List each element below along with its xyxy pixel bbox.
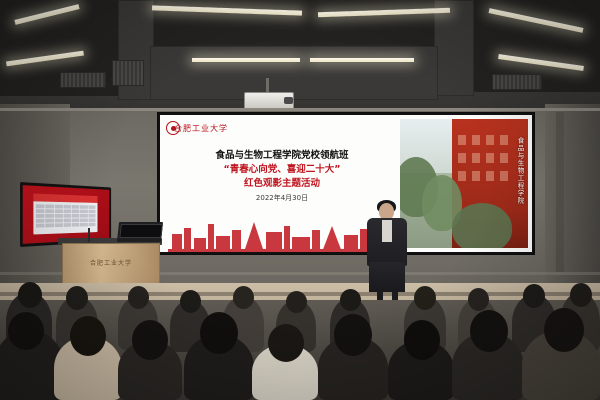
- audience-head: [200, 312, 238, 354]
- slide-heading-line-1: 食品与生物工程学院党校领航班: [170, 147, 394, 161]
- projector-mount-arm: [266, 78, 269, 92]
- podium-label: 合肥工业大学: [63, 258, 159, 267]
- presenter-leg-right: [392, 290, 398, 300]
- audience-head: [132, 320, 168, 360]
- audience-head: [414, 286, 436, 310]
- laptop[interactable]: [117, 222, 163, 242]
- slide-skyline-graphic: [168, 210, 400, 252]
- audience-head: [340, 289, 361, 311]
- ceiling-vent-left: [60, 72, 106, 88]
- ceiling-light-5: [192, 58, 300, 62]
- audience-head: [570, 283, 592, 307]
- audience-head: [404, 320, 440, 360]
- slide: 合肥工业大学 食品与生物工程学院党校领航班 “青春心向党、喜迎二十大” 红色观影…: [160, 115, 532, 252]
- photo-tree-3: [452, 203, 512, 248]
- microphone-stand: [88, 228, 90, 242]
- audience-head: [470, 310, 508, 352]
- audience-head: [66, 286, 88, 310]
- audience-head: [128, 286, 149, 309]
- wall-column-right: [556, 112, 564, 272]
- projector-lens: [284, 97, 293, 104]
- projection-screen-content: 合肥工业大学 食品与生物工程学院党校领航班 “青春心向党、喜迎二十大” 红色观影…: [160, 115, 532, 252]
- calendar-header: [33, 194, 97, 203]
- ceiling-light-6: [310, 58, 414, 62]
- ceiling-vent-right: [492, 74, 542, 90]
- presenter-inner-top: [382, 220, 392, 242]
- slide-date: 2022年4月30日: [170, 193, 394, 203]
- slide-photo-caption: 食品与生物工程学院: [515, 137, 525, 205]
- slide-campus-photo: 食品与生物工程学院: [400, 119, 528, 248]
- presenter-skirt: [369, 262, 405, 292]
- audience-head: [268, 324, 304, 362]
- audience-head: [468, 288, 489, 311]
- audience-head: [70, 316, 106, 356]
- audience-head: [18, 282, 42, 308]
- calendar-grid: [36, 204, 95, 231]
- ceiling-panel-2: [434, 0, 474, 96]
- slide-heading-line-2: “青春心向党、喜迎二十大”: [170, 161, 394, 175]
- audience-head: [233, 286, 254, 309]
- audience-head: [544, 308, 584, 352]
- wall-display-screen: [23, 185, 109, 244]
- ceiling-panel-3: [150, 46, 438, 100]
- ceiling-vent-center: [112, 60, 144, 86]
- audience-head: [8, 312, 44, 350]
- audience-head: [334, 314, 372, 356]
- audience-head: [286, 291, 307, 313]
- audience-head: [523, 284, 545, 308]
- projection-screen: 合肥工业大学 食品与生物工程学院党校领航班 “青春心向党、喜迎二十大” 红色观影…: [157, 112, 535, 255]
- audience-head: [180, 290, 201, 313]
- lecture-hall-photo: 合肥工业大学 食品与生物工程学院党校领航班 “青春心向党、喜迎二十大” 红色观影…: [0, 0, 600, 400]
- wall-trim-top: [0, 108, 600, 111]
- slide-heading-line-3: 红色观影主题活动: [170, 175, 394, 189]
- laptop-screen: [119, 224, 162, 238]
- presenter-leg-left: [377, 290, 383, 300]
- university-logo-text: 合肥工业大学: [174, 123, 228, 134]
